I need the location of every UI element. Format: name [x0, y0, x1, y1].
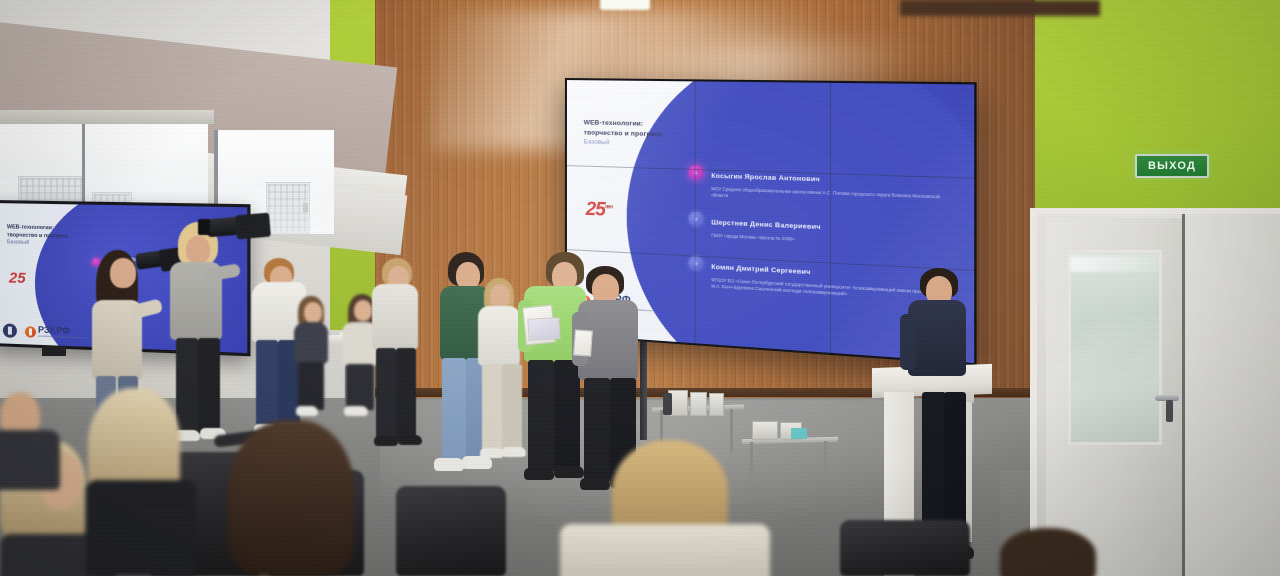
bench-leg — [750, 442, 753, 482]
door-leaf-fixed[interactable] — [1185, 214, 1280, 576]
slide-title: WEB-технологии: творчество и прогресс Ба… — [584, 118, 706, 150]
equipment-box — [709, 393, 724, 416]
wall-green-right — [1035, 0, 1280, 215]
entry-text: Шерстнев Денис Валериевич ГБОУ города Мо… — [711, 211, 820, 244]
exit-sign-label: ВЫХОД — [1148, 160, 1196, 172]
anniversary-logo-sup: лет — [605, 204, 612, 210]
exit-sign: ВЫХОД — [1135, 154, 1209, 178]
videowall-stand-left — [640, 330, 647, 440]
door-glass-highlight — [1070, 256, 1160, 272]
preview-title-line1: WEB-технологии: — [7, 224, 54, 231]
camera-body — [235, 213, 271, 240]
equipment-box — [690, 392, 707, 416]
rzu-logo-mark-icon — [25, 326, 36, 337]
videowall-bezel — [830, 83, 831, 353]
preview-rzu-logo: РЗУ.РФ российский экономический универси… — [25, 325, 87, 339]
preview-rzu-text: РЗУ.РФ российский экономический универси… — [38, 326, 87, 340]
preview-logos: РЗУ.РФ российский экономический универси… — [3, 323, 87, 340]
preview-subtitle: Базовый — [7, 240, 69, 249]
wall-fixture — [303, 203, 308, 212]
camera-lens-hood — [198, 219, 210, 235]
preview-rzu-tagline: российский экономический университет — [38, 335, 87, 340]
preview-slide-title: WEB-технологии: творчество и прогресс Ба… — [7, 223, 69, 248]
slide-title-line2: творчество и прогресс — [584, 129, 663, 138]
chair[interactable] — [396, 486, 506, 576]
chair[interactable] — [840, 520, 970, 576]
conference-hall-photo: ВЫХОД WEB-технологии: творчество и прогр… — [0, 0, 1280, 576]
equipment-box — [752, 421, 778, 440]
certificate-secondary — [527, 317, 560, 341]
entry-name: Комян Дмитрий Сергеевич — [711, 264, 810, 277]
bench-leg — [824, 441, 827, 479]
preview-monitor-stand — [42, 346, 66, 356]
equipment-teal-item — [791, 428, 807, 439]
window-blind[interactable] — [0, 110, 214, 124]
door-glass-panel — [1068, 250, 1162, 445]
slide-subtitle: Базовый — [584, 139, 706, 151]
door-lock[interactable] — [1166, 400, 1173, 422]
entry-badge-icon: 2 — [688, 211, 704, 227]
entry-badge-icon: 1 — [688, 165, 704, 181]
door-seam — [1182, 214, 1185, 576]
anniversary-logo: 25лет — [586, 199, 612, 222]
ceiling-shadow-band — [900, 0, 1100, 16]
anniversary-logo-number: 25 — [586, 199, 605, 221]
equipment-tower — [663, 393, 672, 415]
entry-badge-icon: 3 — [688, 255, 704, 271]
entry-name: Косыгин Ярослав Антонович — [711, 173, 820, 184]
preview-anniversary-logo: 25 — [9, 269, 26, 287]
videowall-bezel — [694, 81, 695, 343]
bench-leg — [730, 409, 733, 451]
ministry-logo-icon — [3, 323, 17, 338]
entry-name: Шерстнев Денис Валериевич — [711, 219, 820, 231]
slide-title-line1: WEB-технологии: — [584, 119, 644, 127]
certificate — [573, 329, 593, 356]
ceiling-light — [600, 0, 650, 10]
